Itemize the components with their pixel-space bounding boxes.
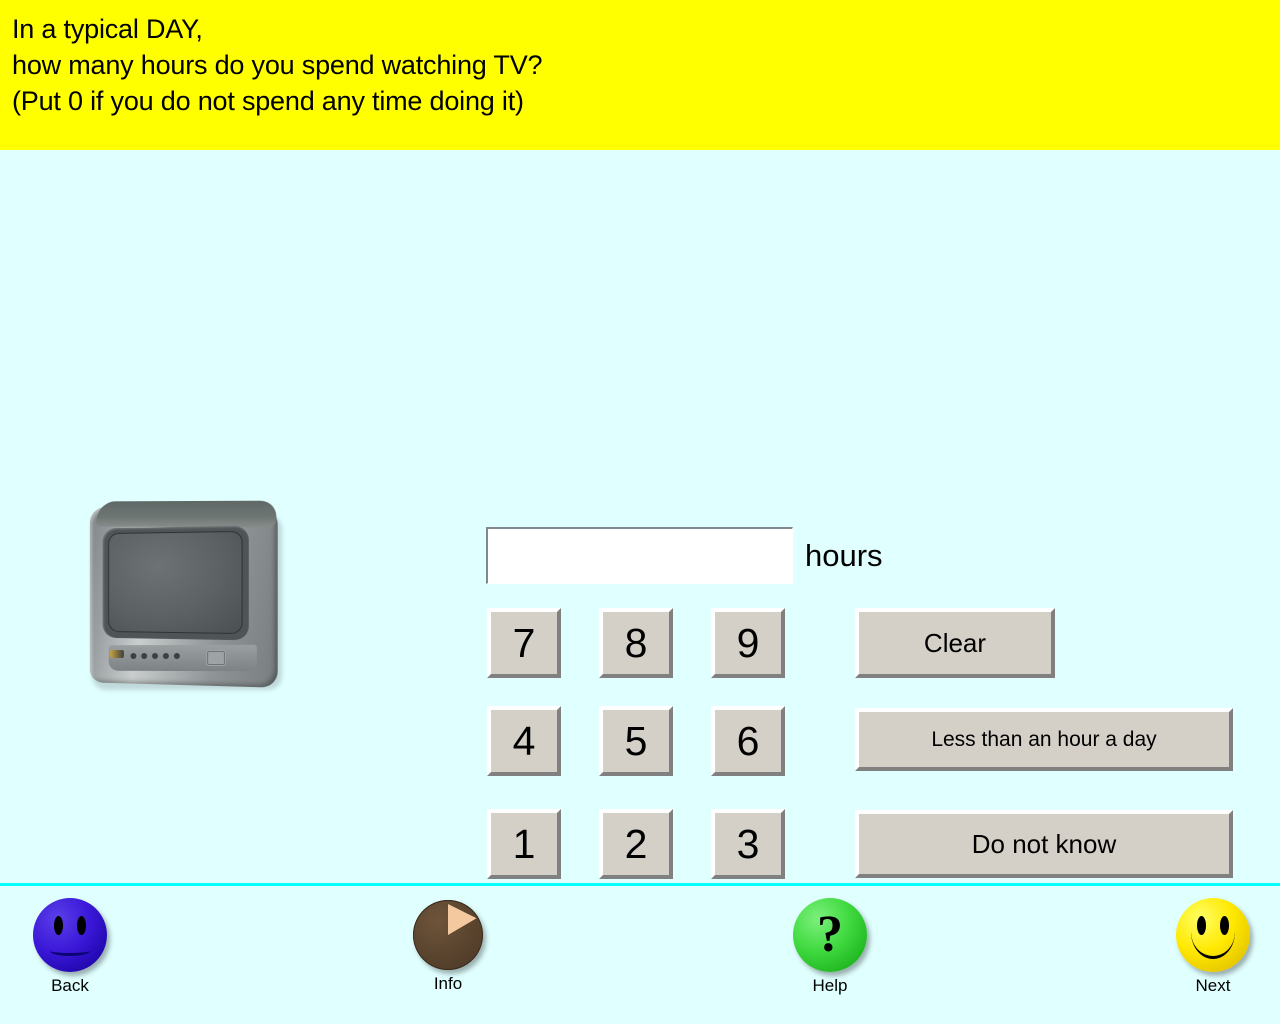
hours-input[interactable]	[486, 527, 793, 584]
do-not-know-button[interactable]: Do not know	[855, 810, 1233, 878]
help-button[interactable]: ? Help	[760, 898, 900, 996]
tv-button	[174, 653, 180, 659]
keypad-key-3[interactable]: 3	[711, 809, 785, 879]
sad-face-icon	[33, 898, 107, 972]
question-header: In a typical DAY, how many hours do you …	[0, 0, 1280, 150]
smiley-face-icon	[1176, 898, 1250, 972]
navigation-bar: Back Info ? Help Next	[0, 886, 1280, 1024]
mouth-neutral	[50, 946, 90, 956]
tv-button	[163, 653, 169, 659]
tv-button-row	[130, 653, 179, 659]
mouth-smile	[1191, 932, 1235, 959]
keypad-key-2[interactable]: 2	[599, 809, 673, 879]
tv-screen-frame	[103, 526, 249, 641]
tv-knob	[206, 650, 226, 666]
pie-wedge	[448, 904, 479, 935]
help-glyph: ?	[793, 898, 867, 972]
back-button-label: Back	[0, 976, 140, 996]
info-button-label: Info	[378, 974, 518, 994]
question-mark-icon: ?	[793, 898, 867, 972]
pie-chart-icon	[413, 900, 483, 970]
television-icon	[78, 495, 293, 700]
tv-top-panel	[95, 501, 280, 528]
less-than-an-hour-button[interactable]: Less than an hour a day	[855, 708, 1233, 771]
answer-input-row: hours	[486, 527, 883, 584]
tv-button	[152, 653, 158, 659]
keypad-key-7[interactable]: 7	[487, 608, 561, 678]
keypad-key-5[interactable]: 5	[599, 706, 673, 776]
info-button[interactable]: Info	[378, 898, 518, 994]
keypad-key-4[interactable]: 4	[487, 706, 561, 776]
next-button-label: Next	[1143, 976, 1280, 996]
tv-button	[141, 653, 147, 659]
help-button-label: Help	[760, 976, 900, 996]
clear-button[interactable]: Clear	[855, 608, 1055, 678]
keypad-key-8[interactable]: 8	[599, 608, 673, 678]
hours-unit-label: hours	[805, 540, 883, 571]
tv-logo	[110, 650, 124, 658]
keypad-key-9[interactable]: 9	[711, 608, 785, 678]
eye-right	[77, 916, 86, 935]
tv-screen	[108, 531, 242, 634]
back-button[interactable]: Back	[0, 898, 140, 996]
question-line-1: In a typical DAY,	[12, 11, 1280, 47]
next-button[interactable]: Next	[1143, 898, 1280, 996]
answer-area: hours 7 8 9 4 5 6 1 2 3 0 Clear Less tha…	[0, 150, 1280, 884]
question-line-2: how many hours do you spend watching TV?	[12, 47, 1280, 83]
question-line-3: (Put 0 if you do not spend any time doin…	[12, 83, 1280, 119]
keypad-key-1[interactable]: 1	[487, 809, 561, 879]
keypad-key-6[interactable]: 6	[711, 706, 785, 776]
tv-button	[130, 653, 136, 659]
eye-left	[54, 916, 63, 935]
